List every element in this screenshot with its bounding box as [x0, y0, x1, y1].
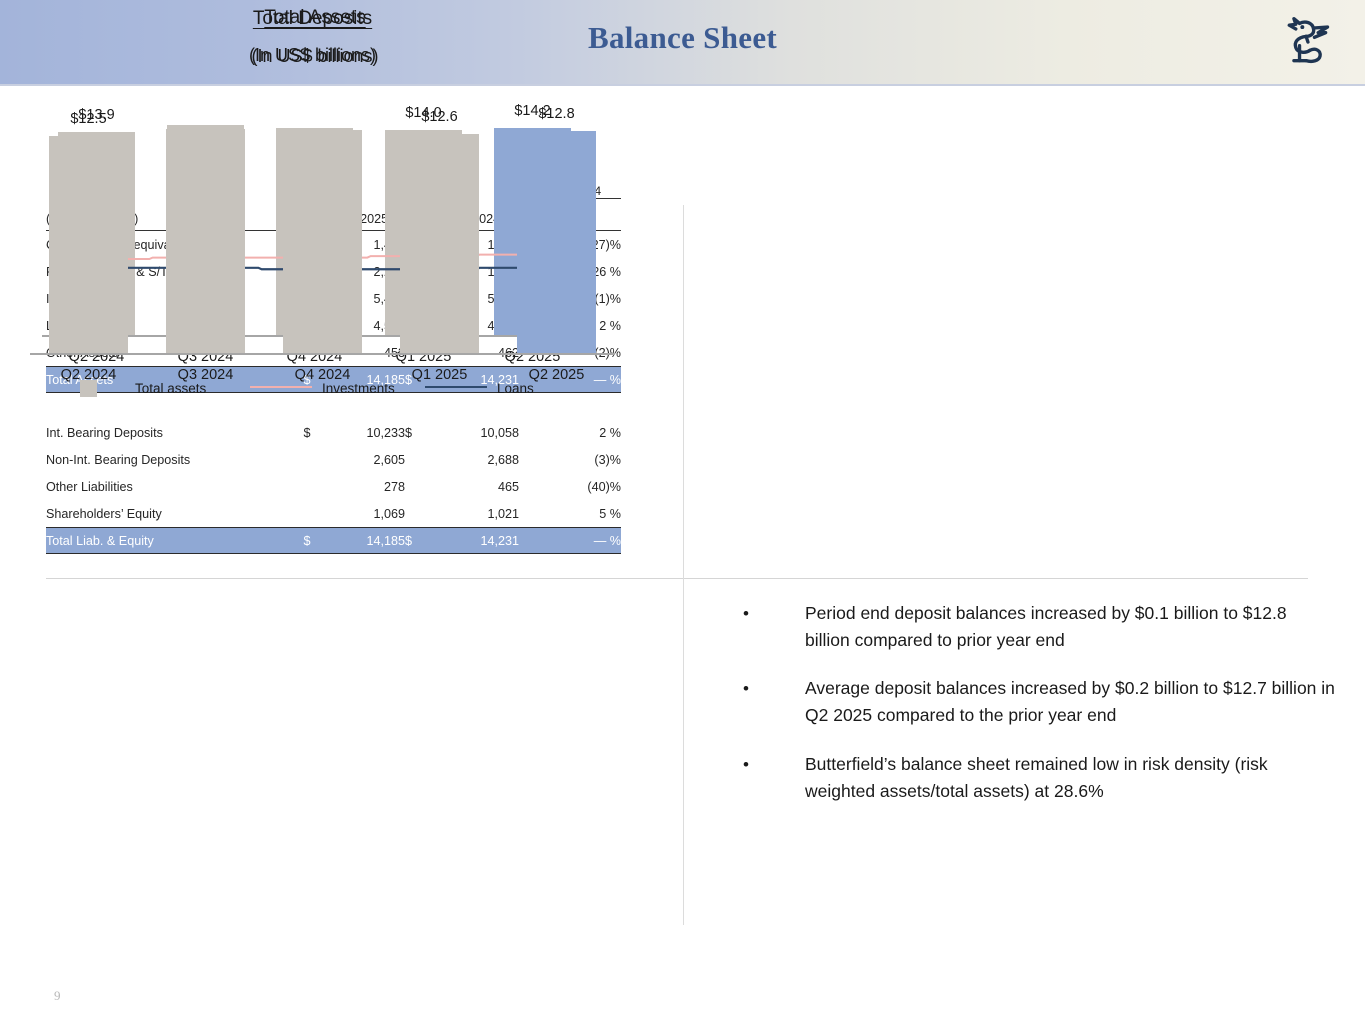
currency-symbol: $: [291, 528, 323, 554]
currency-symbol: $: [291, 419, 323, 446]
value-percent: 2 %: [519, 419, 621, 446]
legend-label-total-assets: Total assets: [135, 381, 206, 396]
legend-line-loans: [425, 386, 487, 388]
bar-total-deposits: [400, 134, 480, 353]
bar-value-label: $12.8: [517, 106, 597, 122]
bar-value-label: $12.5: [49, 111, 129, 127]
bar-total-deposits: [283, 130, 363, 353]
x-axis-label: Q4 2024: [283, 367, 363, 383]
bar-total-deposits: [166, 129, 246, 353]
table-row-total-liab-equity: Total Liab. & Equity$14,185$14,231— %: [46, 528, 621, 554]
x-axis-label: Q2 2025: [517, 367, 597, 383]
x-axis-label: Q3 2024: [166, 367, 246, 383]
bullet-dot-icon: •: [743, 752, 749, 778]
bar-total-deposits: [517, 131, 597, 353]
currency-symbol: $: [405, 528, 433, 554]
table-row: Non-Int. Bearing Deposits2,6052,688(3)%: [46, 446, 621, 473]
value-percent: (3)%: [519, 446, 621, 473]
page-number: 9: [54, 988, 61, 1004]
currency-symbol: [405, 500, 433, 528]
row-label: Other Liabilities: [46, 473, 291, 500]
horizontal-divider: [46, 578, 1308, 579]
commentary-bullets: •Period end deposit balances increased b…: [735, 600, 1335, 826]
bullet-item: •Average deposit balances increased by $…: [735, 675, 1335, 729]
currency-symbol: [405, 473, 433, 500]
row-label: Shareholders’ Equity: [46, 500, 291, 528]
bullet-item: •Butterfield’s balance sheet remained lo…: [735, 751, 1335, 805]
row-label: Total Liab. & Equity: [46, 528, 291, 554]
bullet-dot-icon: •: [743, 676, 749, 702]
legend-label-loans: Loans: [497, 381, 534, 396]
value-q4-2024: 465: [433, 473, 519, 500]
value-q2-2025: 14,185: [323, 528, 405, 554]
bar-total-deposits: [49, 136, 129, 353]
x-axis-label: Q1 2025: [400, 367, 480, 383]
total-deposits-subtitle: (In US$ billions): [0, 45, 625, 66]
currency-symbol: [291, 446, 323, 473]
currency-symbol: [291, 473, 323, 500]
legend-label-investments: Investments: [322, 381, 395, 396]
legend-line-investments: [250, 386, 312, 388]
bar-value-label: $12.6: [400, 109, 480, 125]
row-label: Int. Bearing Deposits: [46, 419, 291, 446]
header-divider: [0, 84, 1365, 86]
table-row: Shareholders’ Equity1,0691,0215 %: [46, 500, 621, 528]
vertical-divider: [683, 205, 684, 925]
bullet-text: Butterfield’s balance sheet remained low…: [805, 754, 1268, 801]
value-q4-2024: 2,688: [433, 446, 519, 473]
value-q2-2025: 1,069: [323, 500, 405, 528]
value-q2-2025: 2,605: [323, 446, 405, 473]
bullet-dot-icon: •: [743, 601, 749, 627]
chart-baseline: [30, 353, 615, 355]
table-row: Other Liabilities278465(40)%: [46, 473, 621, 500]
value-q2-2025: 10,233: [323, 419, 405, 446]
currency-symbol: [291, 500, 323, 528]
bullet-text: Average deposit balances increased by $0…: [805, 678, 1335, 725]
bullet-item: •Period end deposit balances increased b…: [735, 600, 1335, 654]
table-row: Int. Bearing Deposits$10,233$10,0582 %: [46, 419, 621, 446]
row-label: Non-Int. Bearing Deposits: [46, 446, 291, 473]
currency-symbol: [405, 446, 433, 473]
value-q4-2024: 1,021: [433, 500, 519, 528]
butterfield-griffin-logo-icon: [1277, 14, 1337, 70]
value-percent: 5 %: [519, 500, 621, 528]
value-q4-2024: 10,058: [433, 419, 519, 446]
currency-symbol: $: [405, 419, 433, 446]
value-q2-2025: 278: [323, 473, 405, 500]
value-percent: — %: [519, 528, 621, 554]
value-percent: (40)%: [519, 473, 621, 500]
total-deposits-title: Total Deposits: [0, 8, 625, 30]
bullet-text: Period end deposit balances increased by…: [805, 603, 1287, 650]
x-axis-label: Q2 2024: [49, 367, 129, 383]
value-q4-2024: 14,231: [433, 528, 519, 554]
